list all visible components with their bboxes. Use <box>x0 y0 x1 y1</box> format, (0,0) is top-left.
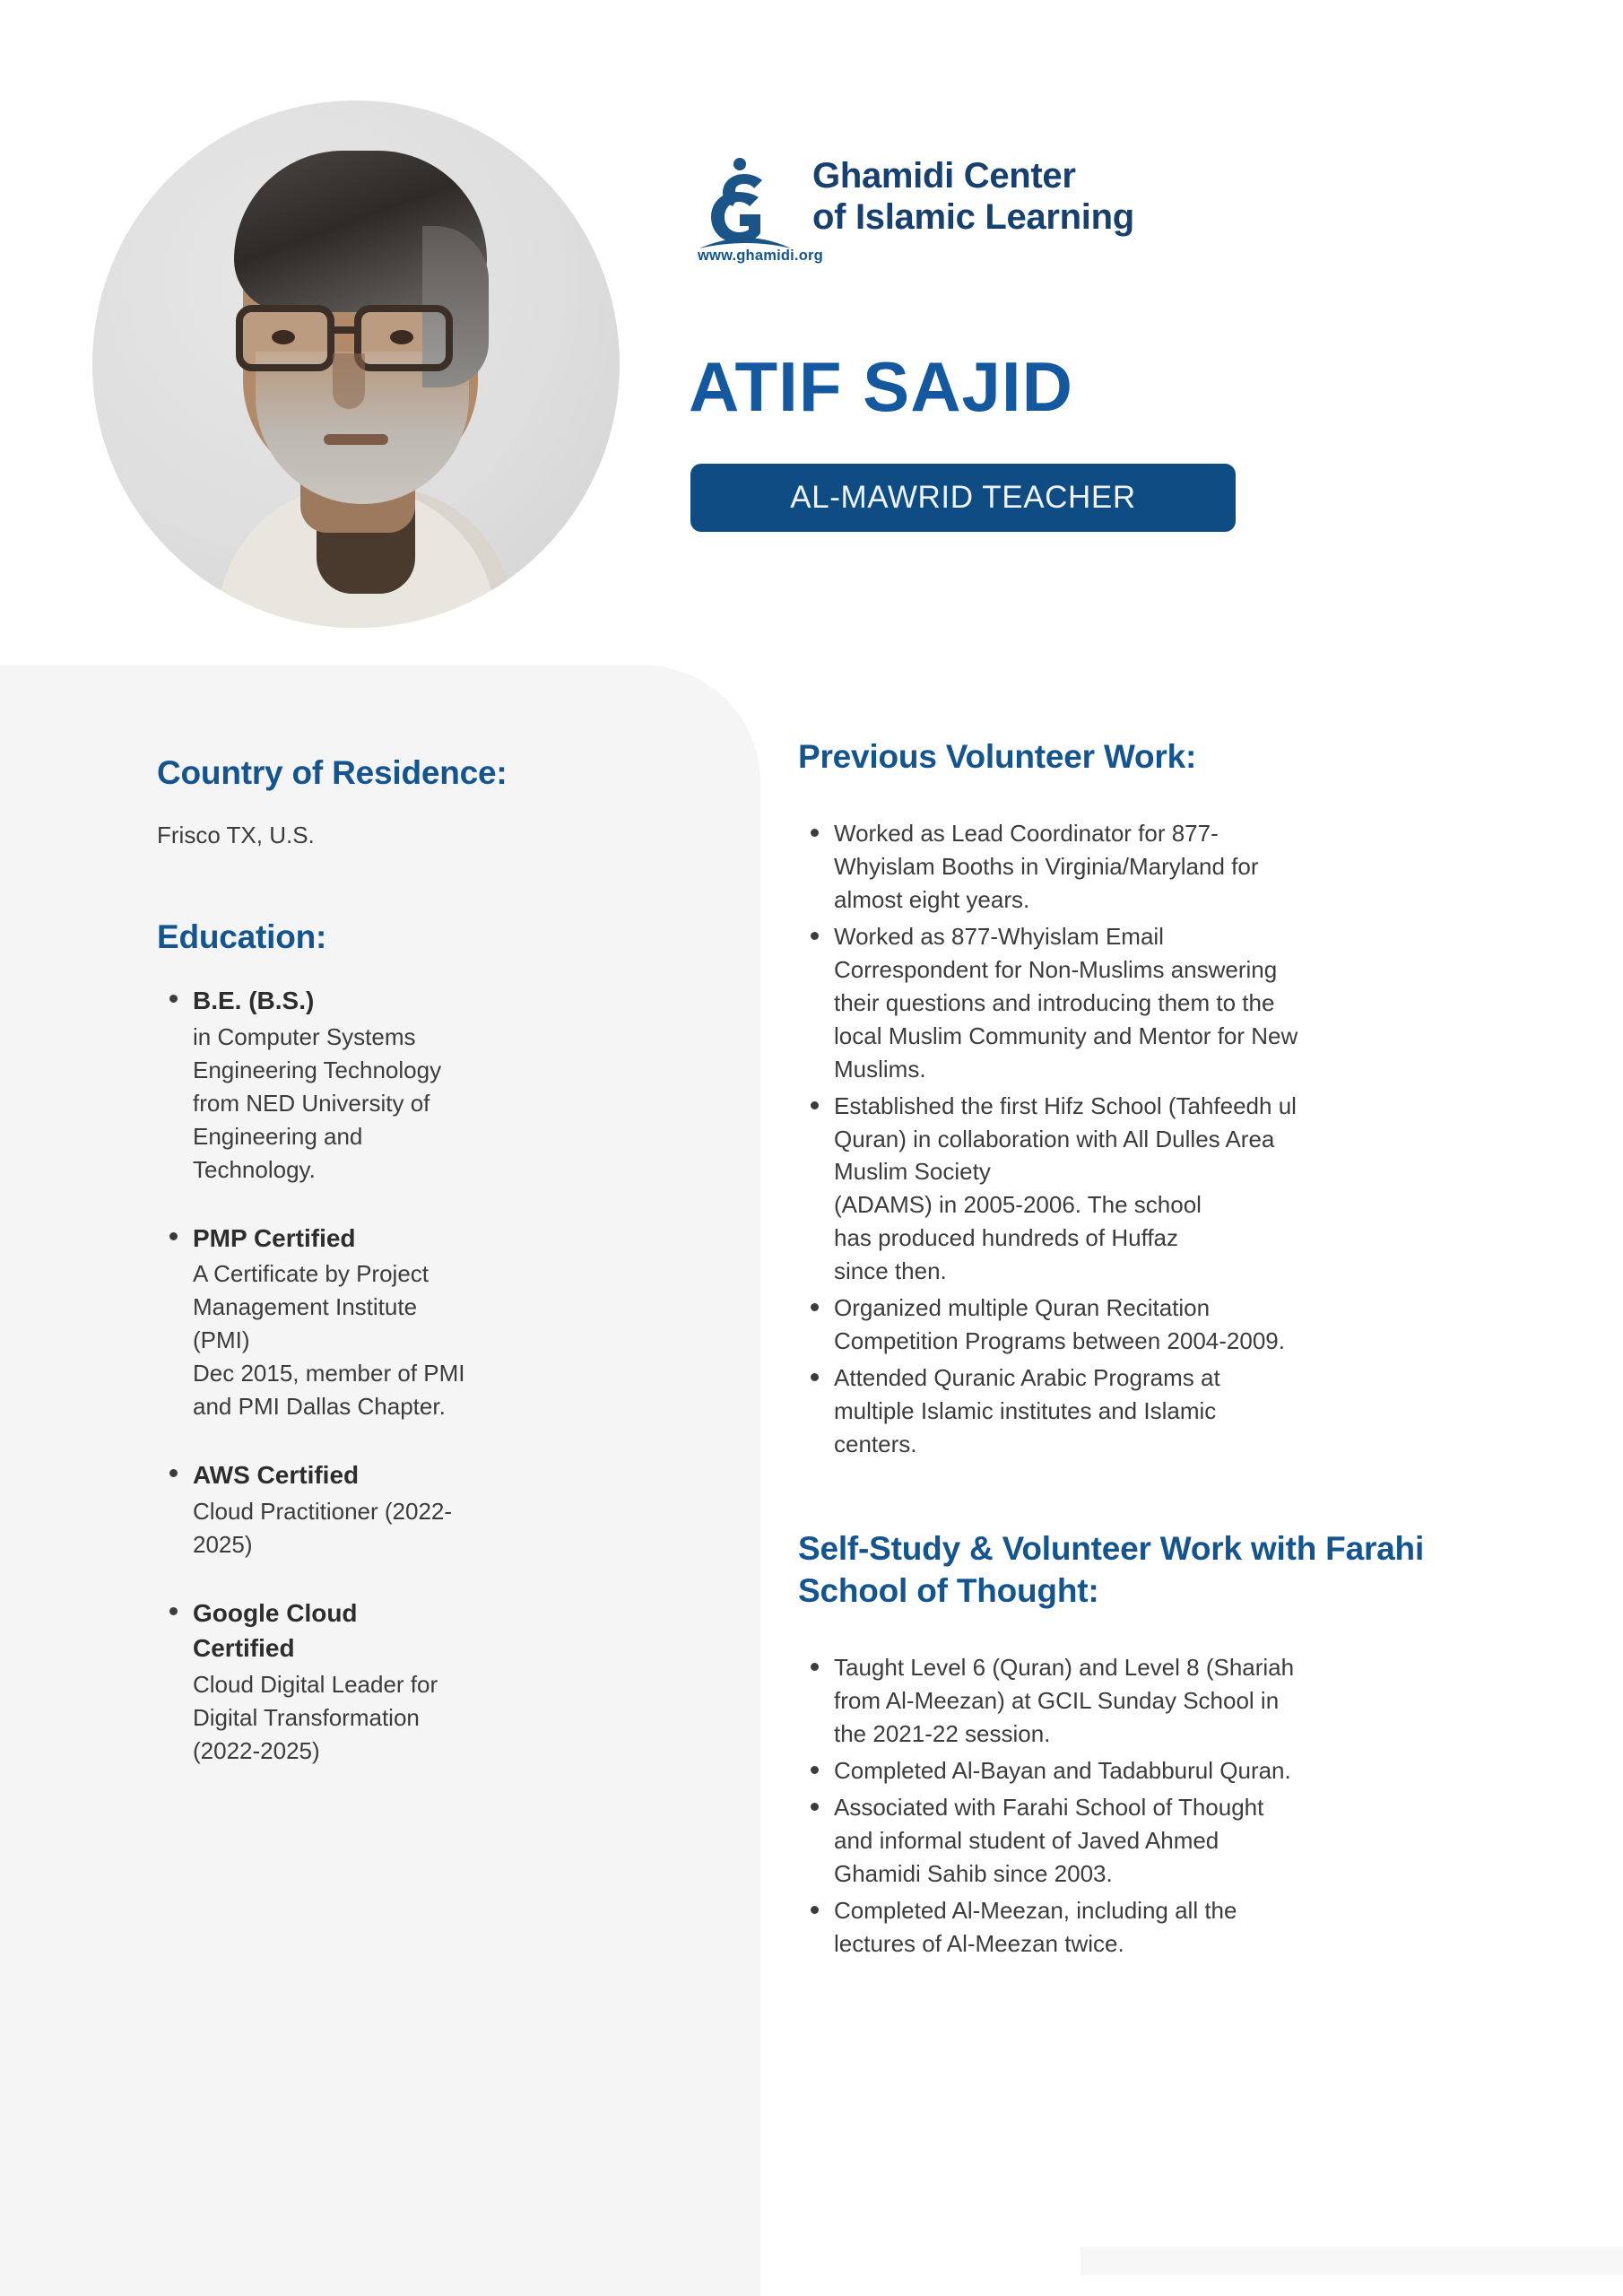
education-item-desc: Cloud Practitioner (2022- 2025) <box>193 1495 686 1561</box>
logo-line-2: of Islamic Learning <box>812 197 1134 237</box>
portrait-eye-right <box>390 330 413 344</box>
portrait-mouth <box>324 434 388 445</box>
education-item-title: PMP Certified <box>193 1221 686 1257</box>
list-item: Worked as Lead Coordinator for 877- Whyi… <box>798 817 1506 917</box>
volunteer-list: Worked as Lead Coordinator for 877- Whyi… <box>798 817 1506 1460</box>
right-column: Previous Volunteer Work: Worked as Lead … <box>798 735 1506 1963</box>
selfstudy-list: Taught Level 6 (Quran) and Level 8 (Shar… <box>798 1651 1506 1960</box>
status-badge: AL-MAWRID TEACHER <box>690 464 1236 532</box>
list-item: Established the first Hifz School (Tahfe… <box>798 1090 1506 1288</box>
selfstudy-heading: Self-Study & Volunteer Work with Farahi … <box>798 1527 1444 1613</box>
list-item: Attended Quranic Arabic Programs at mult… <box>798 1361 1506 1461</box>
portrait-eye-left <box>272 330 295 344</box>
ghamidi-g-logo-icon <box>698 158 793 255</box>
bottom-gray-strip <box>1081 2247 1623 2275</box>
portrait-nose <box>333 353 365 409</box>
education-heading: Education: <box>157 916 686 958</box>
residence-heading: Country of Residence: <box>157 752 686 794</box>
logo-website: www.ghamidi.org <box>698 248 823 265</box>
list-item: Google Cloud Certified Cloud Digital Lea… <box>157 1596 686 1768</box>
left-column: Country of Residence: Frisco TX, U.S. Ed… <box>157 752 686 1802</box>
volunteer-heading: Previous Volunteer Work: <box>798 735 1506 778</box>
list-item: Organized multiple Quran Recitation Comp… <box>798 1291 1506 1358</box>
page-title: ATIF SAJID <box>689 352 1073 422</box>
logo-text: Ghamidi Center of Islamic Learning <box>812 156 1134 238</box>
education-item-desc: A Certificate by Project Management Inst… <box>193 1257 686 1423</box>
organization-logo: www.ghamidi.org Ghamidi Center of Islami… <box>698 158 1200 265</box>
list-item: Taught Level 6 (Quran) and Level 8 (Shar… <box>798 1651 1506 1751</box>
list-item: AWS Certified Cloud Practitioner (2022- … <box>157 1457 686 1561</box>
education-list: B.E. (B.S.) in Computer Systems Engineer… <box>157 983 686 1767</box>
header: www.ghamidi.org Ghamidi Center of Islami… <box>0 0 1623 668</box>
list-item: Worked as 877-Whyislam Email Corresponde… <box>798 920 1506 1086</box>
education-item-title: AWS Certified <box>193 1457 686 1493</box>
education-item-title: B.E. (B.S.) <box>193 983 686 1019</box>
list-item: Completed Al-Meezan, including all the l… <box>798 1894 1506 1961</box>
profile-page: www.ghamidi.org Ghamidi Center of Islami… <box>0 0 1623 2296</box>
avatar <box>92 100 620 628</box>
list-item: B.E. (B.S.) in Computer Systems Engineer… <box>157 983 686 1186</box>
education-item-desc: in Computer Systems Engineering Technolo… <box>193 1021 686 1187</box>
logo-line-1: Ghamidi Center <box>812 156 1076 196</box>
list-item: Associated with Farahi School of Thought… <box>798 1791 1506 1891</box>
residence-value: Frisco TX, U.S. <box>157 819 686 853</box>
education-item-title: Google Cloud Certified <box>193 1596 686 1667</box>
list-item: PMP Certified A Certificate by Project M… <box>157 1221 686 1423</box>
glasses-bridge-icon <box>333 326 358 334</box>
list-item: Completed Al-Bayan and Tadabburul Quran. <box>798 1754 1506 1787</box>
education-item-desc: Cloud Digital Leader for Digital Transfo… <box>193 1668 686 1768</box>
